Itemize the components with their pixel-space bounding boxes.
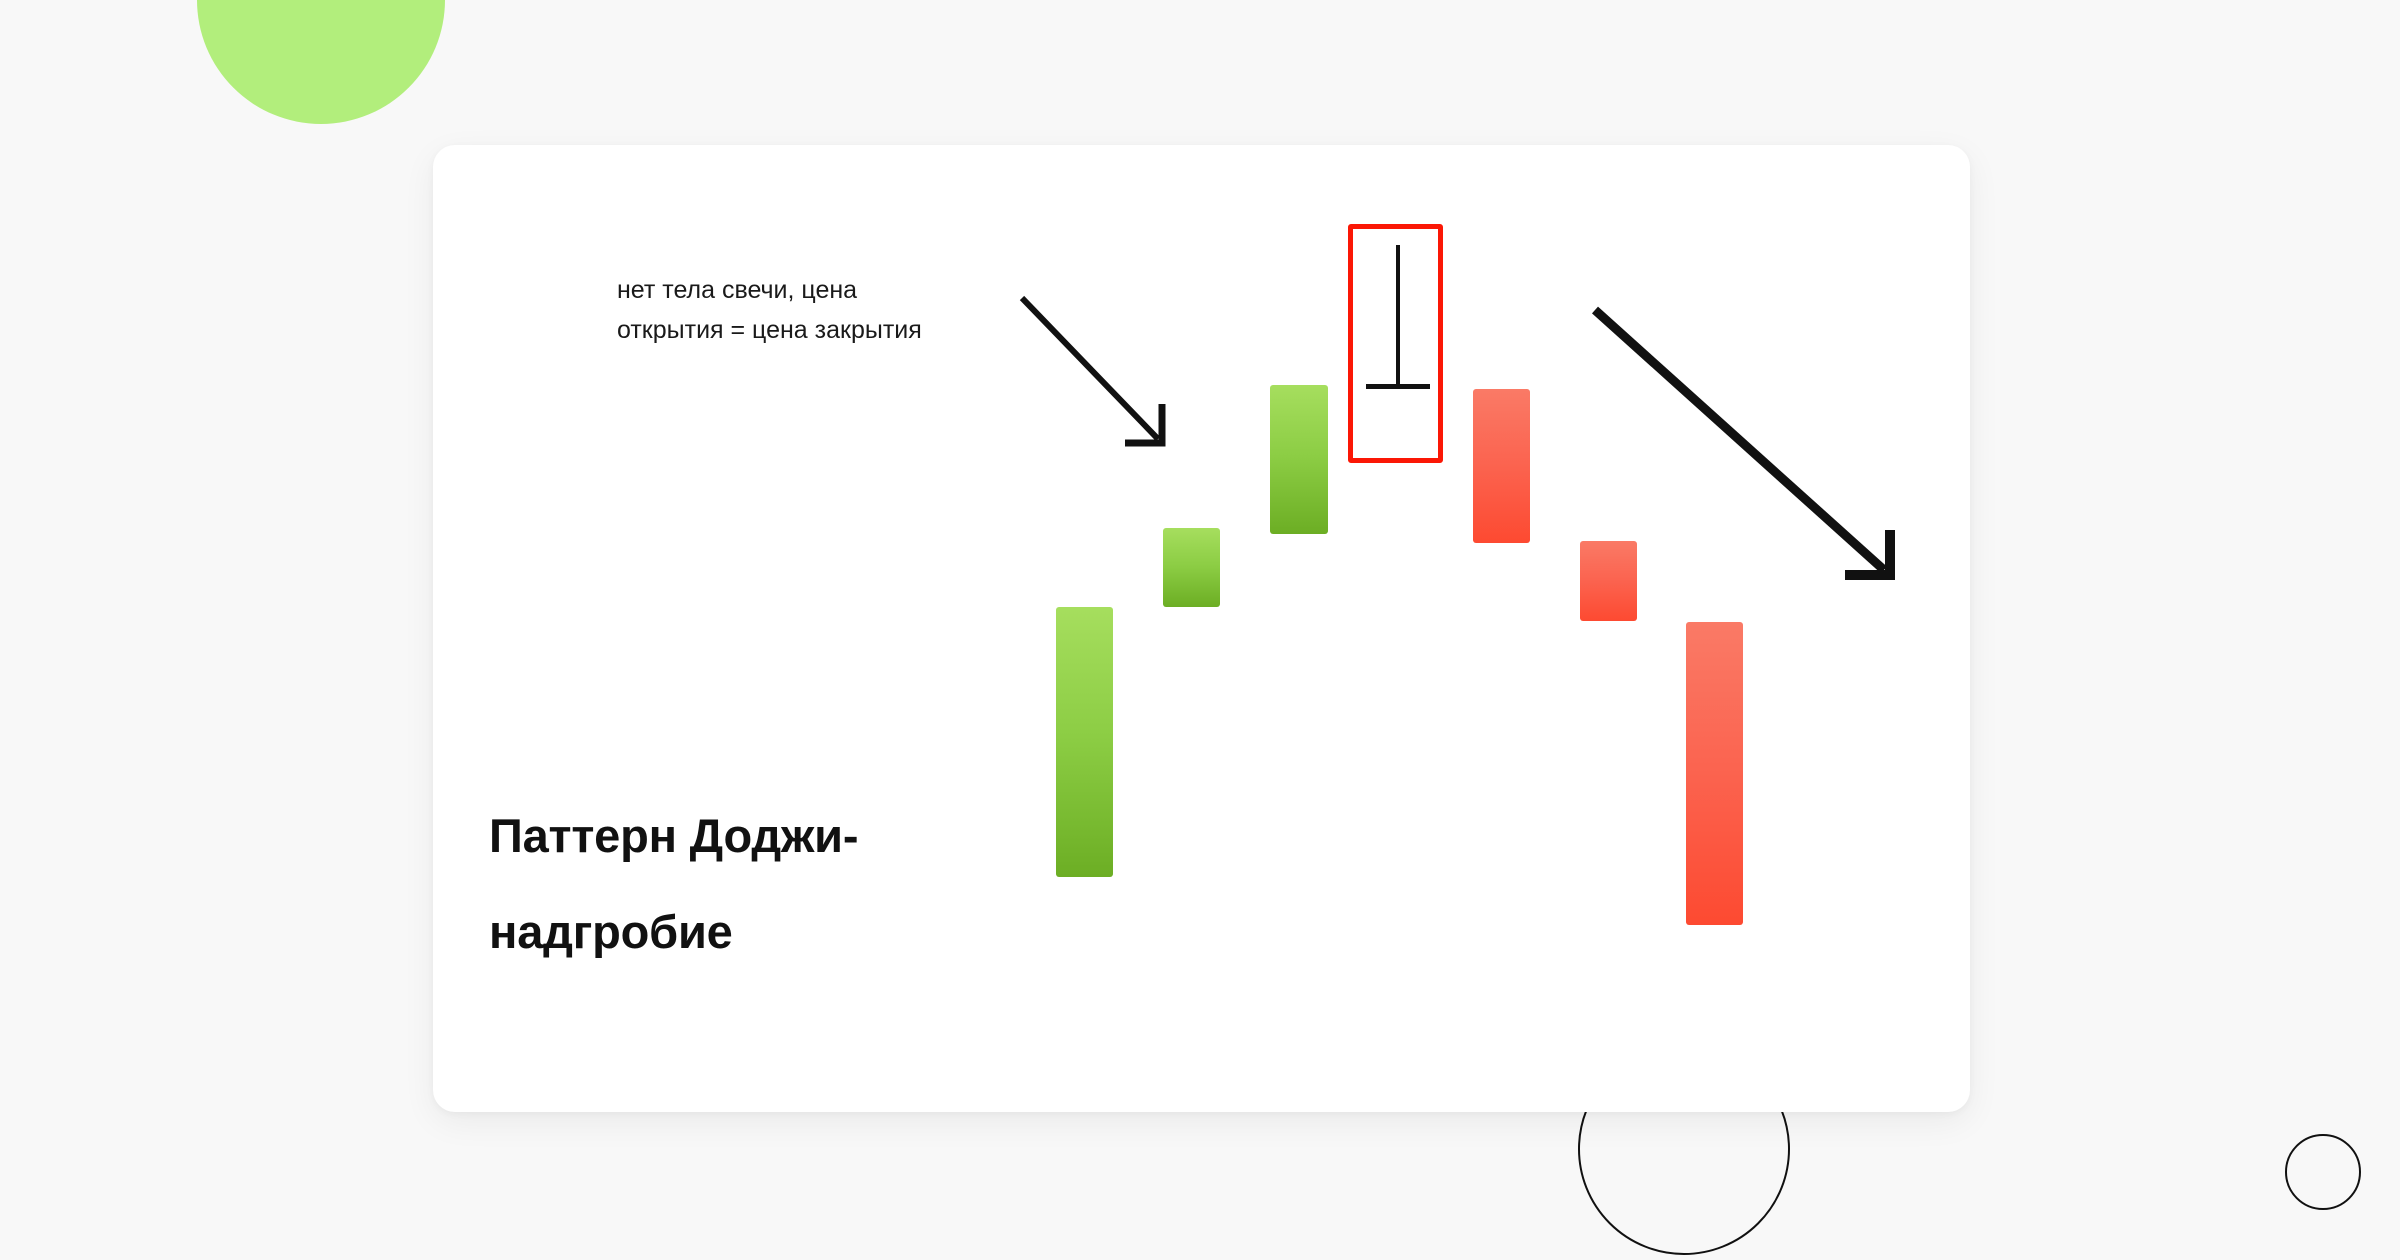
decorative-outline-circle-small [2285, 1134, 2361, 1210]
decorative-green-circle [197, 0, 445, 124]
doji-annotation-text: нет тела свечи, цена открытия = цена зак… [617, 270, 1017, 350]
slide-canvas: нет тела свечи, цена открытия = цена зак… [0, 0, 2400, 1260]
slide-title: Паттерн Доджи-надгробие [489, 788, 1049, 980]
